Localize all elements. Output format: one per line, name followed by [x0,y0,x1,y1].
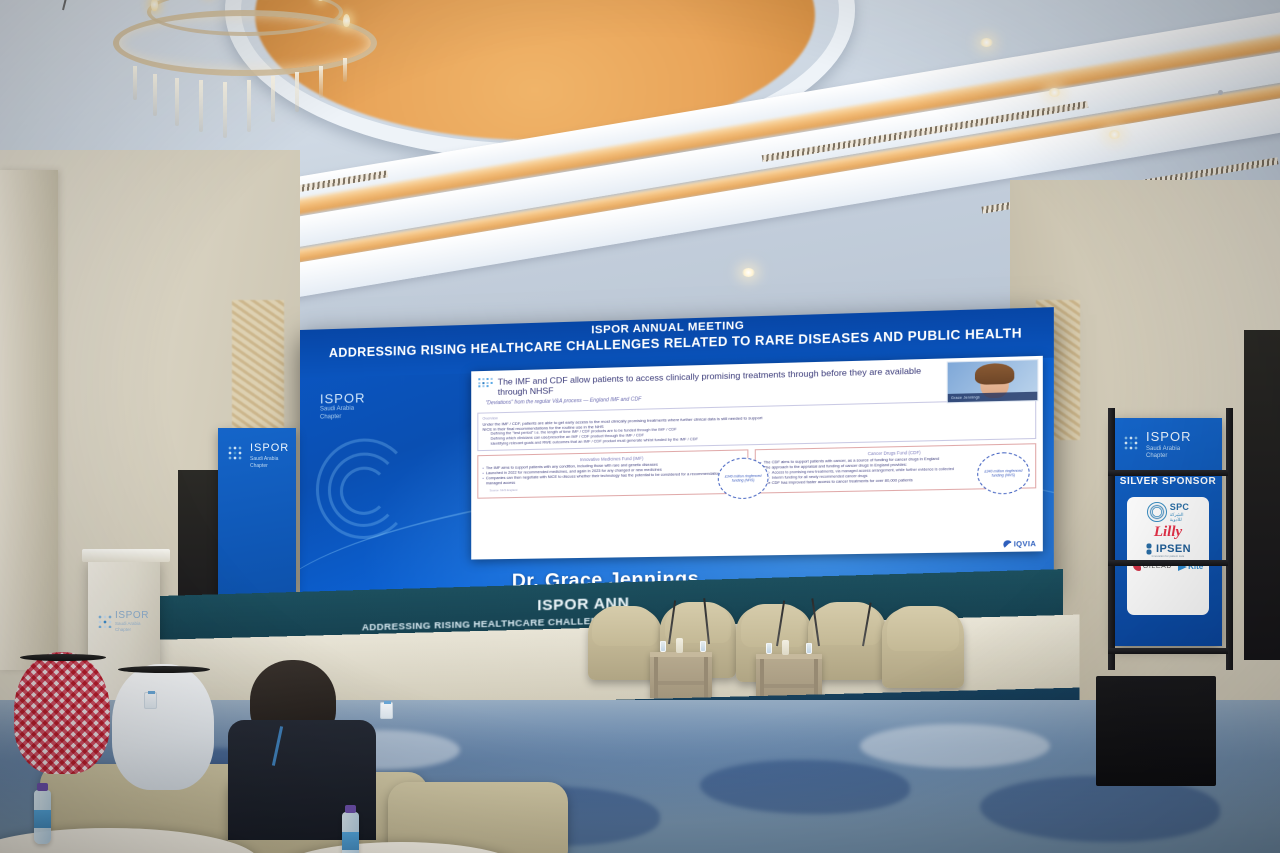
chandelier [95,0,395,140]
presenter-name-caption: Grace Jennings [948,392,1038,403]
chandelier-candle-1 [151,0,158,11]
presentation-slide: The IMF and CDF allow patients to access… [471,356,1043,560]
sponsor-spc: SPC الشركة للأدوية [1147,502,1189,522]
imf-funding-callout: £340 million ringfenced funding (NHS) [718,458,769,500]
name-badge-2 [380,702,393,719]
water-bottle-1 [34,790,51,844]
presenter-hair [975,363,1014,385]
wall-pillar-left [0,170,58,670]
sponsor-lilly: Lilly [1154,525,1182,540]
podium-top [82,549,170,562]
sponsor-banner-logo-name: ISPOR [1146,429,1191,444]
sponsor-banner-logo: ISPOR Saudi Arabia Chapter [1114,418,1222,460]
sponsor-logo-card: SPC الشركة للأدوية Lilly IPSEN Innovatio… [1127,497,1209,615]
chandelier-candle-5 [343,14,350,27]
ispor-dot-grid-icon [98,615,112,628]
stage-bottle-2 [782,640,789,655]
ceiling-downlight-1 [980,38,993,47]
ispor-dot-grid-icon [1124,436,1142,452]
truss-bar-3 [1108,648,1228,654]
presenter-webcam-feed: Grace Jennings [947,359,1039,403]
side-banner-left-sub2: Chapter [250,463,289,470]
badge-clip-icon [384,701,391,704]
truss-pole-left [1108,408,1115,670]
ipsen-tagline: Innovation for patient care [1145,555,1191,558]
ipsen-mark-icon [1145,543,1154,555]
slide-column-imf: Innovative Medicines Fund (IMF) • The IM… [477,450,748,499]
led-logo-name: ISPOR [320,390,366,406]
spc-arabic-2: للأدوية [1170,517,1189,522]
iqvia-swoosh-icon [1004,540,1013,549]
sponsor-ipsen: IPSEN Innovation for patient care [1145,543,1191,558]
ceiling-sprinkler [1218,90,1223,95]
kufiya-headdress [14,652,110,774]
igal-band [118,666,210,673]
ipsen-name: IPSEN [1156,543,1191,555]
bottle-label [34,810,51,828]
podium-logo: ISPOR Saudi Arabia Chapter [98,610,149,632]
iqvia-logo-text: IQVIA [1014,540,1037,548]
sponsor-banner-logo-sub1: Saudi Arabia [1146,446,1191,453]
podium-logo-sub2: Chapter [115,627,149,633]
stage-bottle-1 [676,638,683,653]
slide-ispor-dot-logo [477,377,493,389]
slide-footnote: Source: NHS England [490,485,744,493]
stage-water-glass-3 [766,643,772,654]
side-banner-left-name: ISPOR [250,442,289,454]
sponsor-banner-logo-sub2: Chapter [1146,453,1191,460]
ispor-dot-grid-icon [228,446,246,462]
truss-bar-2 [1108,560,1228,566]
water-bottle-2 [342,812,359,853]
ceiling-downlight-2 [1048,88,1061,97]
ceiling-downlight-3 [1108,130,1121,139]
stage-water-glass-4 [806,643,812,654]
stage-water-glass-2 [700,641,706,652]
podium-logo-name: ISPOR [115,610,149,621]
truss-bar-1 [1108,470,1228,476]
bullet-point-glyph-icon: • [482,477,483,487]
led-stage-screen: ISPOR ANNUAL MEETING ADDRESSING RISING H… [300,307,1054,600]
iqvia-logo: IQVIA [1004,540,1036,549]
sponsor-banner: ISPOR Saudi Arabia Chapter SILVER SPONSO… [1114,418,1222,646]
ceiling-downlight-5 [742,268,755,277]
bottle-cap [345,805,356,813]
igal-band [20,654,106,661]
name-badge [144,692,157,709]
stage-chair-5 [882,608,964,688]
stage-side-table-1 [650,652,712,698]
slide-overview-box: Overview Under the IMF / CDF, patients a… [477,399,1036,451]
truss-pole-right [1226,408,1233,670]
bottle-cap [37,783,48,791]
led-logo-sub2: Chapter [320,413,366,422]
side-banner-left-logo: ISPOR Saudi Arabia Chapter [218,428,296,470]
spc-seal-icon [1147,502,1167,522]
doorway-right [1244,330,1280,660]
badge-clip-icon [148,691,155,694]
spc-name: SPC [1170,503,1189,512]
bottle-label [342,832,359,850]
conference-hall-photo: ISPOR ANNUAL MEETING ADDRESSING RISING H… [0,0,1280,853]
floor-speaker-box [1096,676,1216,786]
cdf-funding-callout: £340 million ringfenced funding (NHS) [977,452,1030,495]
head-silhouette-motif [306,427,427,560]
sponsor-tier-label: SILVER SPONSOR [1114,476,1222,487]
slide-two-columns: Innovative Medicines Fund (IMF) • The IM… [477,444,1036,499]
ghutra-headdress [112,664,214,790]
led-ispor-logo: ISPOR Saudi Arabia Chapter [320,390,366,421]
side-banner-left-sub1: Saudi Arabia [250,456,289,463]
stage-water-glass-1 [660,641,666,652]
